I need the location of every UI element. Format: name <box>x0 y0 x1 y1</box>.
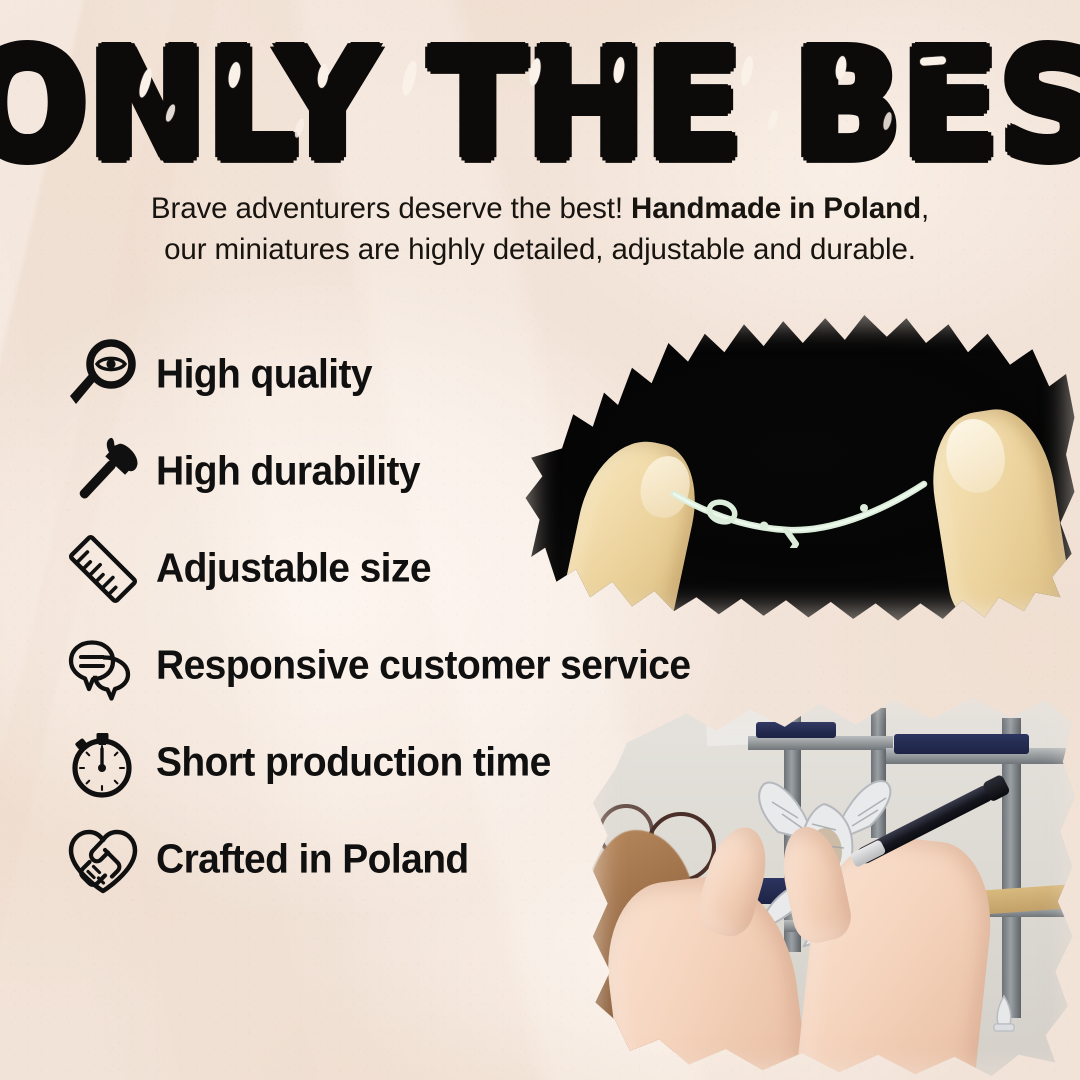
feature-label: High quality <box>156 352 372 398</box>
miniature-in-fingers-photo <box>520 312 1080 622</box>
feature-label: Responsive customer service <box>156 643 690 689</box>
ruler-icon <box>60 526 146 612</box>
subtitle-line-1: Brave adventurers deserve the best! Hand… <box>0 188 1080 229</box>
paint-tray <box>756 722 836 738</box>
page-title: ONLY THE BEST <box>0 34 1080 178</box>
photo-content <box>588 692 1080 1080</box>
stopwatch-icon <box>60 720 146 806</box>
speech-bubbles-icon <box>60 623 146 709</box>
feature-label: High durability <box>156 449 420 495</box>
subtitle-line-1-pre: Brave adventurers deserve the best! <box>151 192 631 225</box>
subtitle: Brave adventurers deserve the best! Hand… <box>0 188 1080 271</box>
feature-label: Crafted in Poland <box>156 837 469 883</box>
subtitle-line-1-post: , <box>921 192 929 225</box>
magnifier-eye-icon <box>60 332 146 418</box>
hammer-icon <box>60 429 146 515</box>
photo-content <box>520 312 1080 622</box>
subtitle-highlight: Handmade in Poland <box>631 192 921 225</box>
feature-label: Adjustable size <box>156 546 431 592</box>
painting-workshop-photo <box>588 692 1080 1080</box>
product-feature-banner: ONLY THE BEST Brave adventurers deserve … <box>0 0 1080 1080</box>
shelf-beam <box>748 736 893 750</box>
subtitle-line-2: our miniatures are highly detailed, adju… <box>0 229 1080 270</box>
miniature-part <box>668 470 944 548</box>
heart-handshake-icon <box>60 817 146 903</box>
feature-label: Short production time <box>156 740 551 786</box>
paint-tray <box>894 734 1029 754</box>
spare-miniature <box>986 992 1022 1038</box>
